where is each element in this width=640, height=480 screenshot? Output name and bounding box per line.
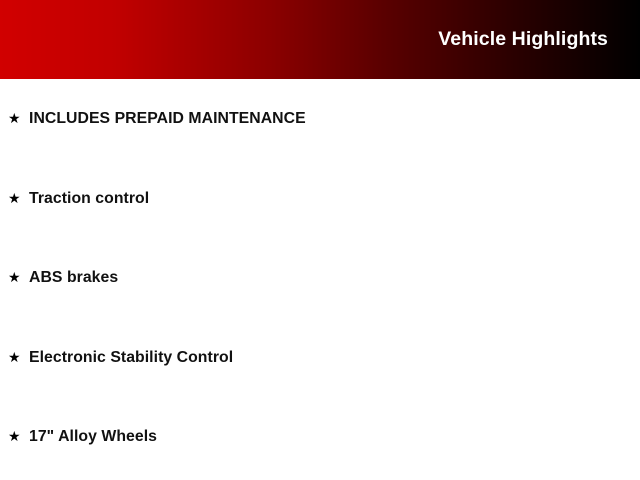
list-item: ★ 17" Alloy Wheels	[8, 429, 157, 445]
highlight-label: INCLUDES PREPAID MAINTENANCE	[29, 111, 306, 127]
star-icon: ★	[8, 111, 29, 125]
vehicle-highlights-list: ★ INCLUDES PREPAID MAINTENANCE ★ Tractio…	[0, 79, 640, 480]
header-banner: Vehicle Highlights	[0, 0, 640, 79]
highlight-label: 17" Alloy Wheels	[29, 429, 157, 445]
list-item: ★ Electronic Stability Control	[8, 350, 233, 366]
highlight-label: ABS brakes	[29, 270, 118, 286]
vehicle-highlights-page: Vehicle Highlights ★ INCLUDES PREPAID MA…	[0, 0, 640, 480]
page-title: Vehicle Highlights	[438, 30, 608, 50]
list-item: ★ INCLUDES PREPAID MAINTENANCE	[8, 111, 306, 127]
highlight-label: Electronic Stability Control	[29, 350, 233, 366]
star-icon: ★	[8, 270, 29, 284]
highlight-label: Traction control	[29, 191, 149, 207]
list-item: ★ ABS brakes	[8, 270, 118, 286]
star-icon: ★	[8, 191, 29, 205]
star-icon: ★	[8, 350, 29, 364]
star-icon: ★	[8, 429, 29, 443]
list-item: ★ Traction control	[8, 191, 149, 207]
